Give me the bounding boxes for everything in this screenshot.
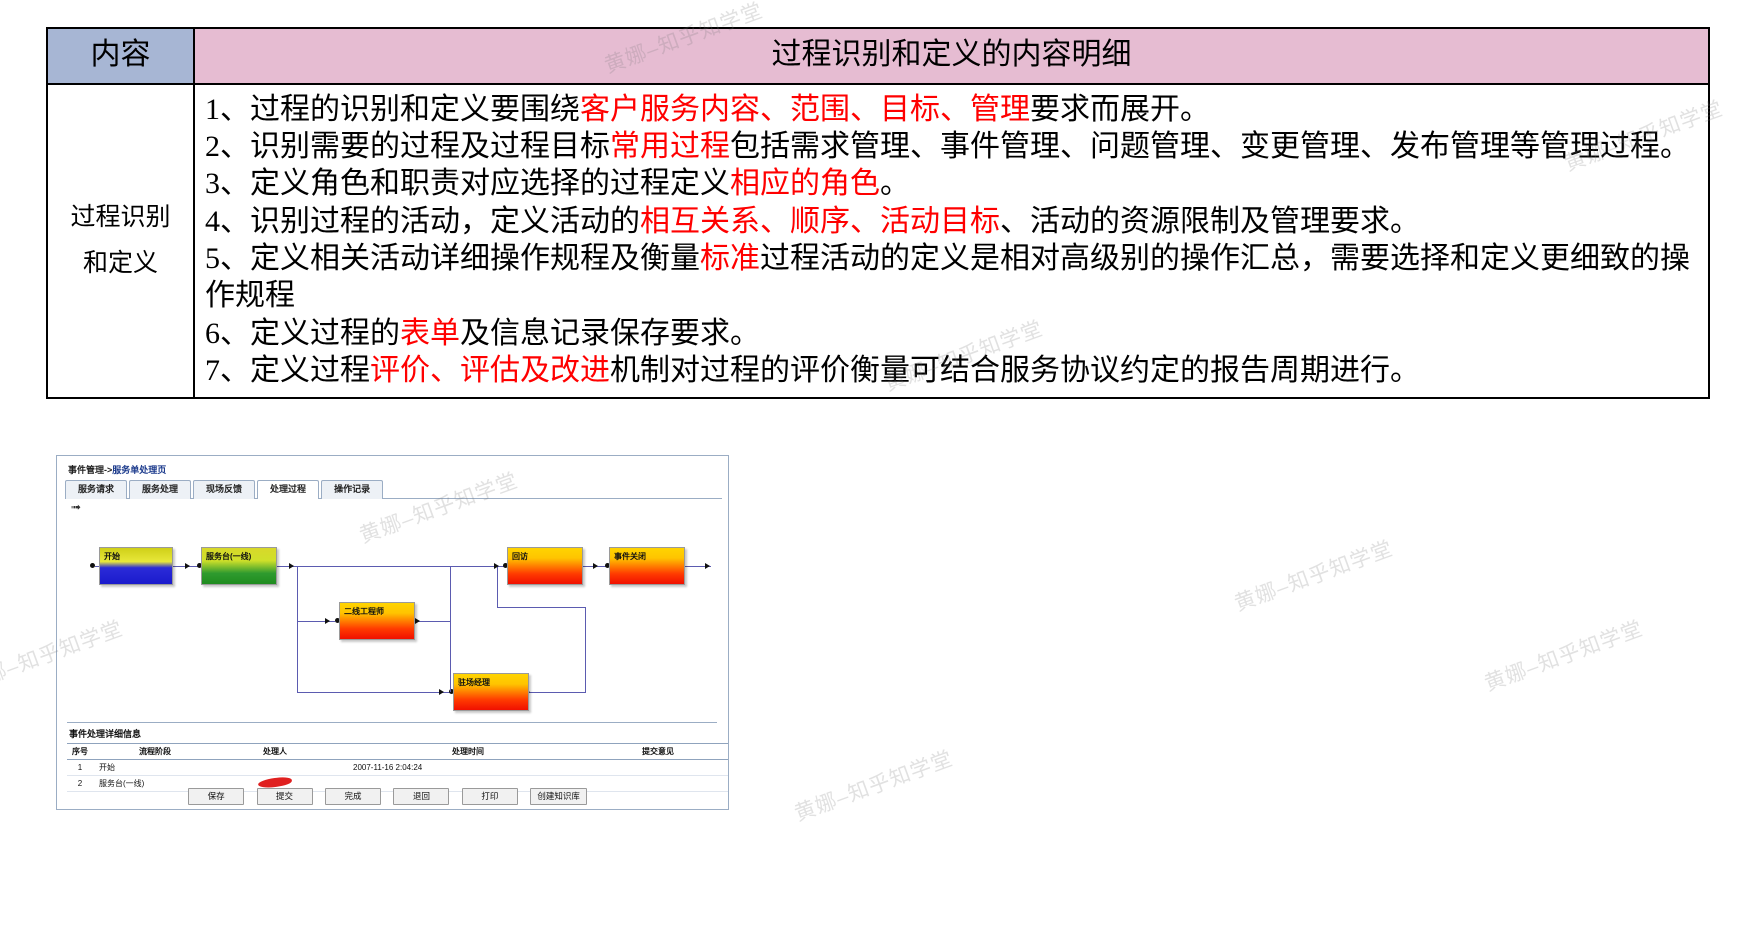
arrow-icon xyxy=(185,563,190,569)
item-text: 定义角色和职责对应选择的过程定义 xyxy=(250,167,730,200)
flow-node-label: 事件关闭 xyxy=(614,551,646,562)
tab-bar: 服务请求服务处理现场反馈处理过程操作记录 xyxy=(65,480,722,499)
arrow-icon xyxy=(494,563,499,569)
item-text: 、活动的资源限制及管理要求。 xyxy=(1000,205,1420,238)
incident-detail-section: 事件处理详细信息 序号 流程阶段 处理人 处理时间 提交意见 1 开始 2007… xyxy=(67,722,717,792)
tab-handling-process[interactable]: 处理过程 xyxy=(257,480,319,499)
connector-dot xyxy=(90,563,95,568)
edge-to-onsite xyxy=(297,692,450,693)
flow-node-onsite-manager[interactable]: 驻场经理 xyxy=(453,673,529,711)
return-button[interactable]: 退回 xyxy=(393,788,449,805)
breadcrumb-prefix: 事件管理-> xyxy=(68,465,112,475)
item-number: 1、 xyxy=(205,93,250,126)
header-cell-content: 内容 xyxy=(47,28,194,84)
row-label-line1: 过程识别 xyxy=(50,195,191,241)
breadcrumb: 事件管理->服务单处理页 xyxy=(68,463,166,476)
highlighted-text: 相互关系、顺序、活动目标 xyxy=(640,205,1000,238)
edge-merge-up xyxy=(450,566,451,692)
edge-back-to-revisit xyxy=(497,566,498,608)
item-text: 识别过程的活动，定义活动的 xyxy=(250,205,640,238)
edge-branch-down xyxy=(297,566,298,692)
item-text: 识别需要的过程及过程目标 xyxy=(250,130,610,163)
watermark: 黄娜–知乎知学堂 xyxy=(1230,532,1397,617)
submit-button[interactable]: 提交 xyxy=(257,788,313,805)
table-body-row: 过程识别 和定义 1、过程的识别和定义要围绕客户服务内容、范围、目标、管理要求而… xyxy=(47,84,1709,399)
item-text: 定义过程 xyxy=(250,354,370,387)
flow-node-label: 回访 xyxy=(512,551,528,562)
content-item-5: 5、定义相关活动详细操作规程及衡量标准过程活动的定义是相对高级别的操作汇总，需要… xyxy=(205,240,1700,315)
item-text: 机制对过程的评价衡量可结合服务协议约定的报告周期进行。 xyxy=(610,354,1420,387)
flow-node-start[interactable]: 开始 xyxy=(99,547,173,585)
cell-user xyxy=(211,760,339,776)
detail-table: 序号 流程阶段 处理人 处理时间 提交意见 1 开始 2007-11-16 2:… xyxy=(67,743,729,792)
cell-no: 1 xyxy=(67,760,93,776)
item-text: 要求而展开。 xyxy=(1030,93,1210,126)
row-label-process-identification: 过程识别 和定义 xyxy=(47,84,194,399)
item-number: 7、 xyxy=(205,354,250,387)
column-header-user: 处理人 xyxy=(211,744,339,760)
flow-node-label: 二线工程师 xyxy=(344,606,384,617)
edge-onsite-out xyxy=(527,692,585,693)
application-screenshot: 事件管理->服务单处理页 服务请求服务处理现场反馈处理过程操作记录 ➟ xyxy=(56,455,729,810)
item-number: 4、 xyxy=(205,205,250,238)
row-body-items: 1、过程的识别和定义要围绕客户服务内容、范围、目标、管理要求而展开。2、识别需要… xyxy=(194,84,1709,399)
cell-stage: 开始 xyxy=(93,760,211,776)
highlighted-text: 评价、评估及改进 xyxy=(370,354,610,387)
content-item-7: 7、定义过程评价、评估及改进机制对过程的评价衡量可结合服务协议约定的报告周期进行… xyxy=(205,352,1700,389)
item-text: 包括需求管理、事件管理、问题管理、变更管理、发布管理等管理过程。 xyxy=(730,130,1690,163)
highlighted-text: 表单 xyxy=(400,317,460,350)
arrow-icon xyxy=(415,618,420,624)
watermark: 黄娜–知乎知学堂 xyxy=(790,742,957,827)
content-item-1: 1、过程的识别和定义要围绕客户服务内容、范围、目标、管理要求而展开。 xyxy=(205,91,1700,128)
item-number: 5、 xyxy=(205,242,250,275)
column-header-stage: 流程阶段 xyxy=(93,744,211,760)
flow-node-label: 服务台(一线) xyxy=(206,551,251,562)
save-button[interactable]: 保存 xyxy=(188,788,244,805)
process-definition-table: 内容 过程识别和定义的内容明细 过程识别 和定义 1、过程的识别和定义要围绕客户… xyxy=(46,27,1710,399)
highlighted-text: 相应的角色 xyxy=(730,167,880,200)
create-kb-button[interactable]: 创建知识库 xyxy=(530,788,587,805)
header-cell-detail: 过程识别和定义的内容明细 xyxy=(194,28,1709,84)
print-button[interactable]: 打印 xyxy=(462,788,518,805)
cell-time: 2007-11-16 2:04:24 xyxy=(339,760,583,776)
complete-button[interactable]: 完成 xyxy=(325,788,381,805)
item-text: 定义相关活动详细操作规程及衡量 xyxy=(250,242,700,275)
detail-title: 事件处理详细信息 xyxy=(67,725,717,743)
content-item-6: 6、定义过程的表单及信息记录保存要求。 xyxy=(205,315,1700,352)
edge-onsite-back xyxy=(497,607,585,608)
item-text: 定义过程的 xyxy=(250,317,400,350)
item-text: 过程的识别和定义要围绕 xyxy=(250,93,580,126)
watermark: 黄娜–知乎知学堂 xyxy=(1480,612,1647,697)
content-item-4: 4、识别过程的活动，定义活动的相互关系、顺序、活动目标、活动的资源限制及管理要求… xyxy=(205,203,1700,240)
column-header-note: 提交意见 xyxy=(583,744,729,760)
tab-service-handling[interactable]: 服务处理 xyxy=(129,480,191,499)
arrow-icon xyxy=(289,563,294,569)
arrow-icon xyxy=(593,563,598,569)
breadcrumb-current[interactable]: 服务单处理页 xyxy=(112,465,166,475)
highlighted-text: 常用过程 xyxy=(610,130,730,163)
table-row[interactable]: 1 开始 2007-11-16 2:04:24 xyxy=(67,760,729,776)
tab-onsite-feedback[interactable]: 现场反馈 xyxy=(193,480,255,499)
column-header-time: 处理时间 xyxy=(339,744,583,760)
row-label-line2: 和定义 xyxy=(50,241,191,287)
content-item-3: 3、定义角色和职责对应选择的过程定义相应的角色。 xyxy=(205,165,1700,202)
cell-note xyxy=(583,760,729,776)
item-number: 6、 xyxy=(205,317,250,350)
action-button-bar: 保存 提交 完成 退回 打印 创建知识库 xyxy=(57,786,728,805)
item-number: 2、 xyxy=(205,130,250,163)
flow-node-label: 开始 xyxy=(104,551,120,562)
content-item-2: 2、识别需要的过程及过程目标常用过程包括需求管理、事件管理、问题管理、变更管理、… xyxy=(205,128,1700,165)
column-header-no: 序号 xyxy=(67,744,93,760)
highlighted-text: 标准 xyxy=(700,242,760,275)
edge-onsite-up xyxy=(585,607,586,693)
flow-node-service-desk[interactable]: 服务台(一线) xyxy=(201,547,277,585)
tab-operation-log[interactable]: 操作记录 xyxy=(321,480,383,499)
item-text: 。 xyxy=(880,167,910,200)
flow-node-incident-closed[interactable]: 事件关闭 xyxy=(609,547,685,585)
flow-node-second-line-engineer[interactable]: 二线工程师 xyxy=(339,602,415,640)
tab-service-request[interactable]: 服务请求 xyxy=(65,480,127,499)
workflow-diagram: 开始 服务台(一线) 二线工程师 驻场经理 回访 事件关闭 xyxy=(57,504,729,719)
item-number: 3、 xyxy=(205,167,250,200)
flow-node-revisit[interactable]: 回访 xyxy=(507,547,583,585)
table-header-row: 内容 过程识别和定义的内容明细 xyxy=(47,28,1709,84)
item-text: 及信息记录保存要求。 xyxy=(460,317,760,350)
flow-node-label: 驻场经理 xyxy=(458,677,490,688)
arrow-icon xyxy=(705,563,710,569)
highlighted-text: 客户服务内容、范围、目标、管理 xyxy=(580,93,1030,126)
arrow-icon xyxy=(439,689,444,695)
detail-header-row: 序号 流程阶段 处理人 处理时间 提交意见 xyxy=(67,744,729,760)
arrow-icon xyxy=(325,618,330,624)
